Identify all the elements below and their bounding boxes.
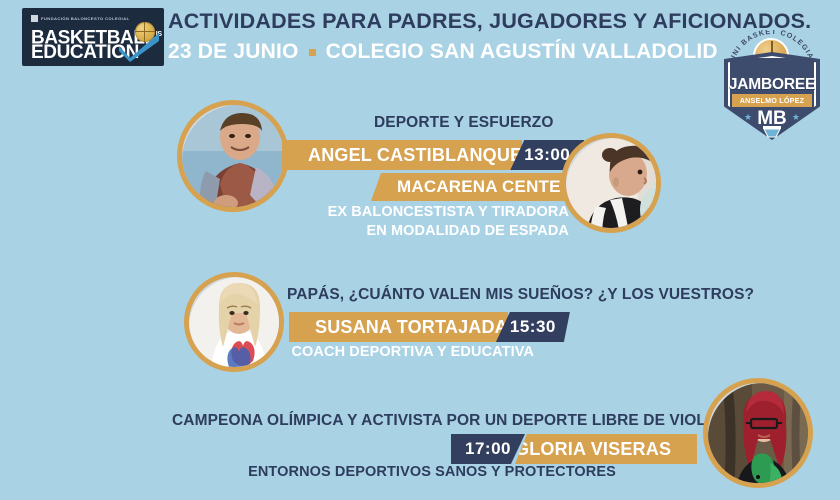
session-3-description-line: ENTORNOS DEPORTIVOS SANOS Y PROTECTORES — [180, 463, 684, 482]
session-3-speaker-bar: 17:00 GLORIA VISERAS — [451, 434, 697, 464]
poster-canvas: FUNDACIÓN BALONCESTO COLEGIAL BASKETBALL… — [0, 0, 840, 500]
photo-image — [708, 383, 808, 483]
session-3-title: CAMPEONA OLÍMPICA Y ACTIVISTA POR UN DEP… — [172, 412, 755, 430]
gloria-viseras-photo — [703, 378, 813, 488]
session-3: CAMPEONA OLÍMPICA Y ACTIVISTA POR UN DEP… — [0, 0, 840, 500]
session-3-time: 17:00 — [451, 434, 525, 464]
session-3-speaker-name: GLORIA VISERAS — [515, 434, 697, 464]
session-3-description: ENTORNOS DEPORTIVOS SANOS Y PROTECTORES — [180, 463, 684, 482]
